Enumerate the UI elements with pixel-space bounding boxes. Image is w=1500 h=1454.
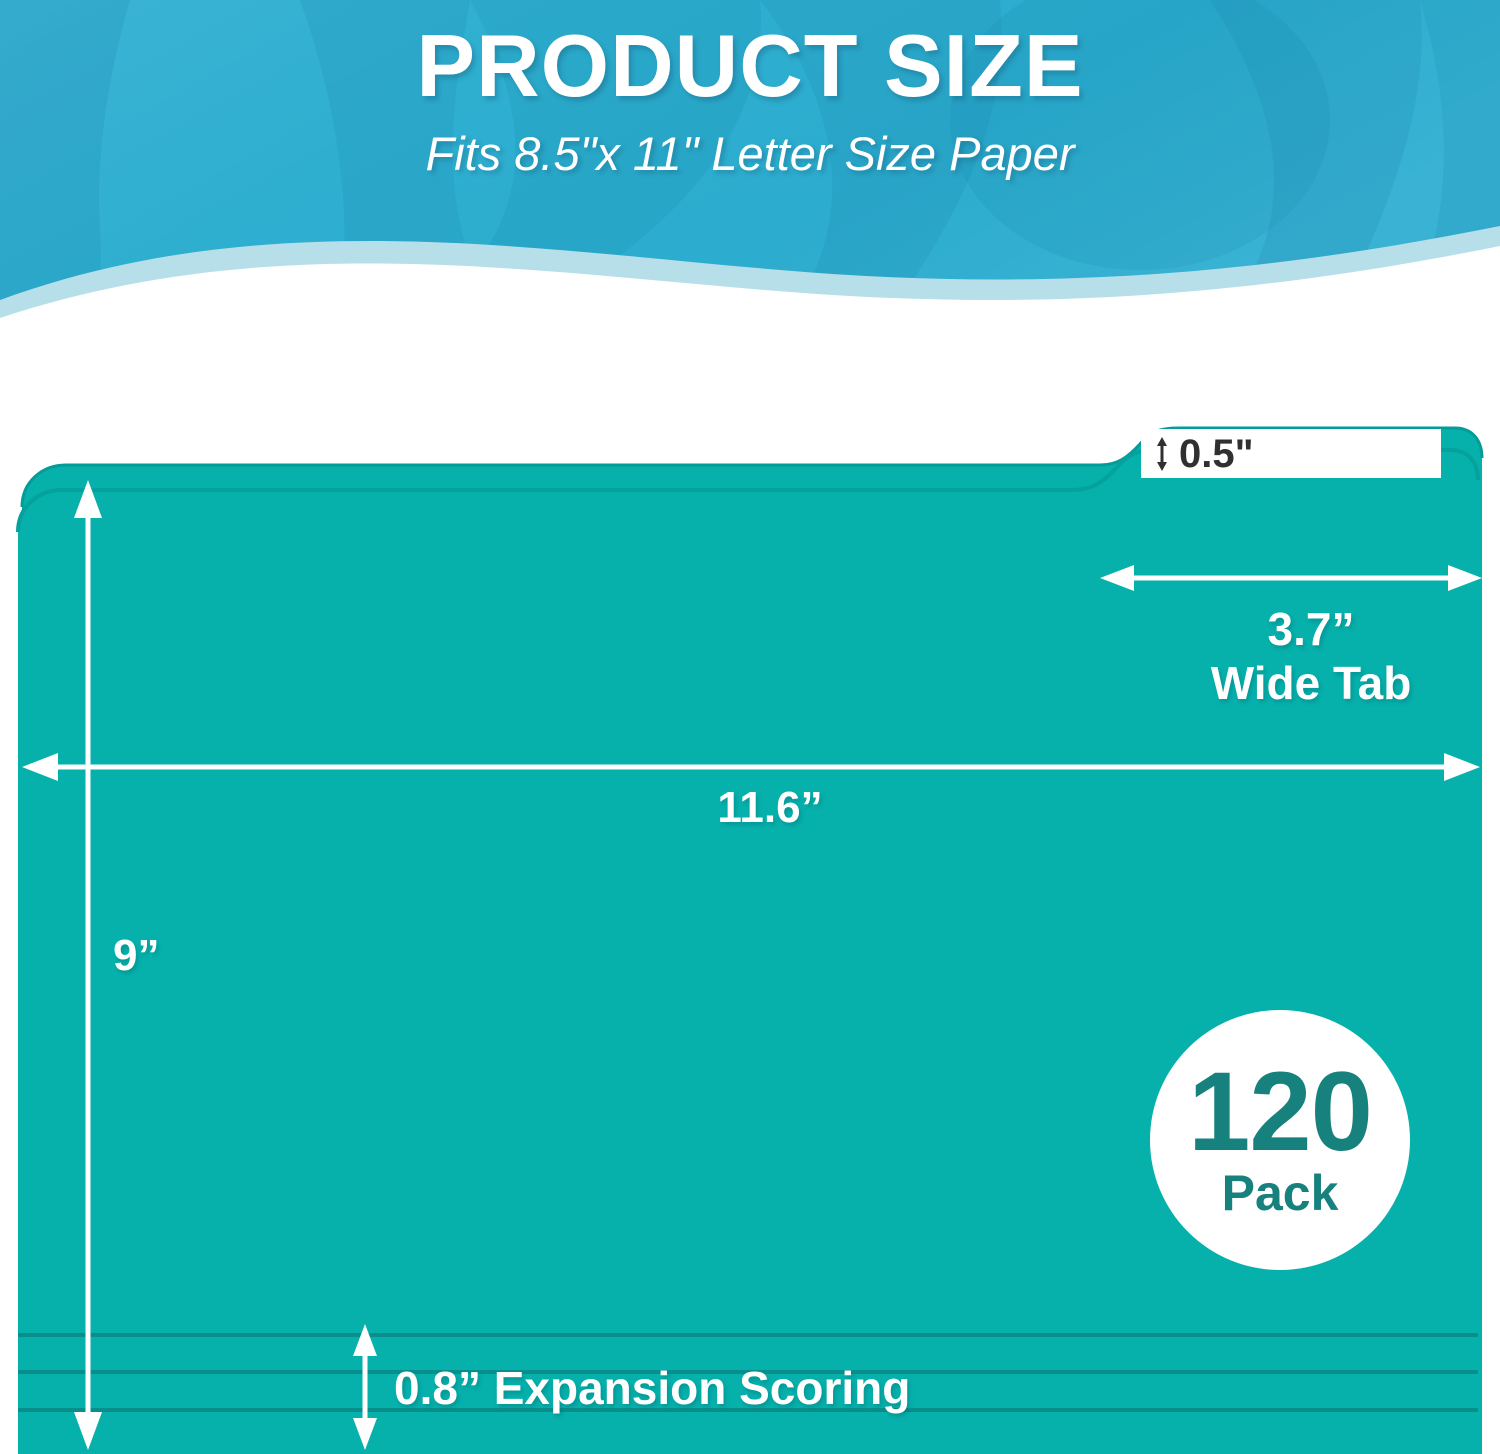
expansion-scoring-label: 0.8” Expansion Scoring	[394, 1360, 910, 1416]
tab-width-caption: Wide Tab	[1161, 656, 1461, 710]
tab-height-arrow-icon	[1155, 437, 1169, 471]
page-title: PRODUCT SIZE	[0, 14, 1500, 118]
product-size-infographic: PRODUCT SIZE Fits 8.5"x 11" Letter Size …	[0, 0, 1500, 1454]
folder-front-panel	[18, 450, 1478, 1454]
folder-shape	[0, 400, 1500, 1454]
pack-count-number: 120	[1188, 1060, 1372, 1164]
pack-count-unit: Pack	[1222, 1166, 1339, 1220]
folder-illustration	[0, 400, 1500, 1454]
pack-count-badge: 120 Pack	[1150, 1010, 1410, 1270]
folder-height-value: 9”	[113, 930, 159, 982]
folder-width-value: 11.6”	[620, 782, 920, 834]
tab-width-value: 3.7”	[1161, 602, 1461, 656]
tab-height-label-box: 0.5"	[1141, 429, 1441, 478]
tab-height-value: 0.5"	[1179, 434, 1254, 474]
header-banner: PRODUCT SIZE Fits 8.5"x 11" Letter Size …	[0, 0, 1500, 330]
page-subtitle: Fits 8.5"x 11" Letter Size Paper	[0, 124, 1500, 184]
